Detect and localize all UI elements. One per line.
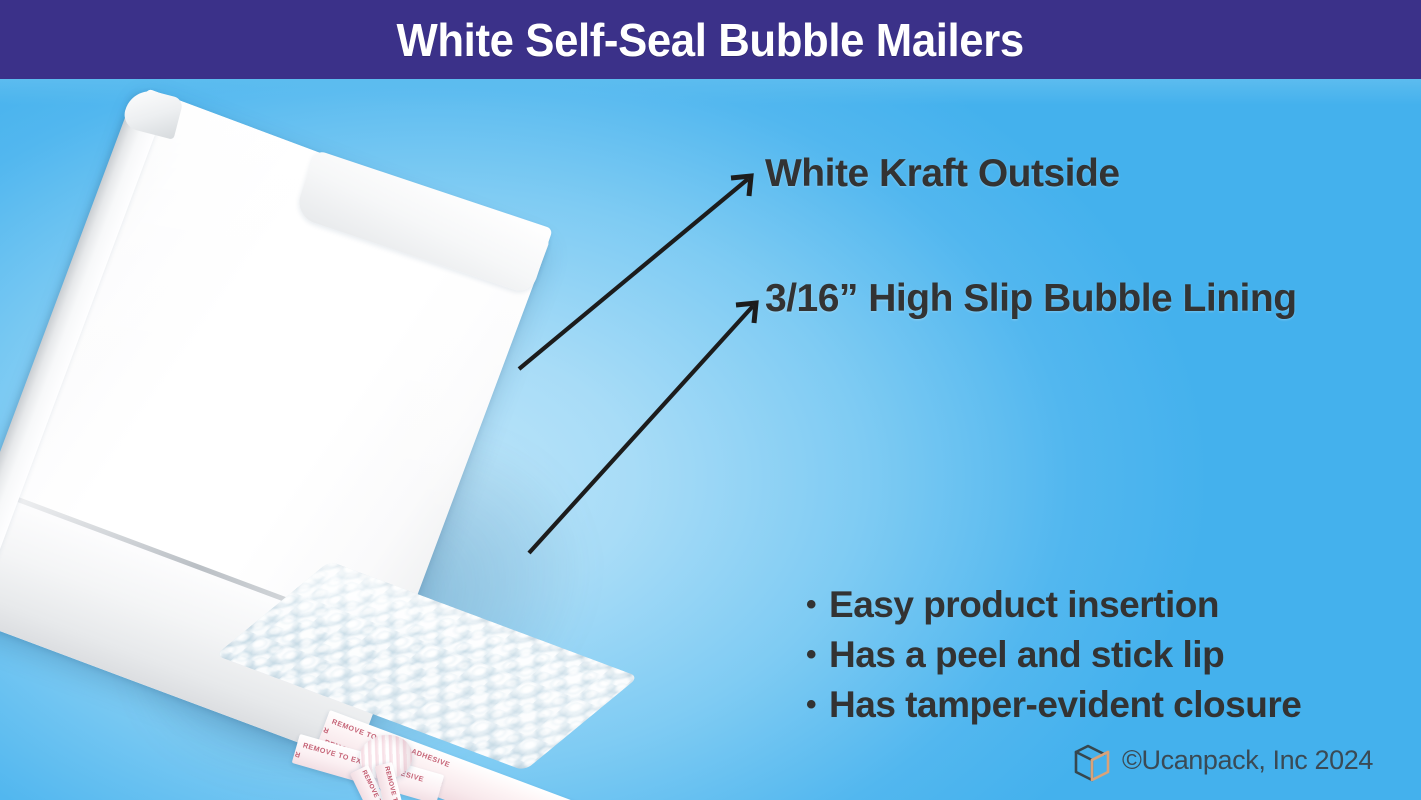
callout-label-white-kraft-outside: White Kraft Outside xyxy=(765,152,1120,196)
page-title: White Self-Seal Bubble Mailers xyxy=(397,13,1024,67)
footer-brand: ©Ucanpack, Inc 2024 xyxy=(1068,736,1373,784)
list-item: • Has tamper-evident closure xyxy=(806,680,1301,730)
bullet-icon: • xyxy=(806,690,816,720)
infographic-canvas: White Self-Seal Bubble Mailers REMOVE TO… xyxy=(0,0,1421,800)
open-box-logo-icon xyxy=(1068,736,1116,784)
list-item: • Has a peel and stick lip xyxy=(806,630,1301,680)
list-item-label: Has a peel and stick lip xyxy=(829,630,1224,680)
callout-label-bubble-lining: 3/16” High Slip Bubble Lining xyxy=(765,277,1297,321)
background-top-edge xyxy=(0,79,1421,105)
bullet-icon: • xyxy=(806,640,816,670)
copyright-text: ©Ucanpack, Inc 2024 xyxy=(1122,745,1373,776)
list-item-label: Easy product insertion xyxy=(829,580,1219,630)
product-image: REMOVE TO EXPOSE ADHESIVE REMOVE TO EXPO… xyxy=(0,110,720,770)
bullet-icon: • xyxy=(806,590,816,620)
feature-list: • Easy product insertion • Has a peel an… xyxy=(806,580,1301,730)
list-item: • Easy product insertion xyxy=(806,580,1301,630)
header-banner: White Self-Seal Bubble Mailers xyxy=(0,0,1421,79)
list-item-label: Has tamper-evident closure xyxy=(829,680,1301,730)
